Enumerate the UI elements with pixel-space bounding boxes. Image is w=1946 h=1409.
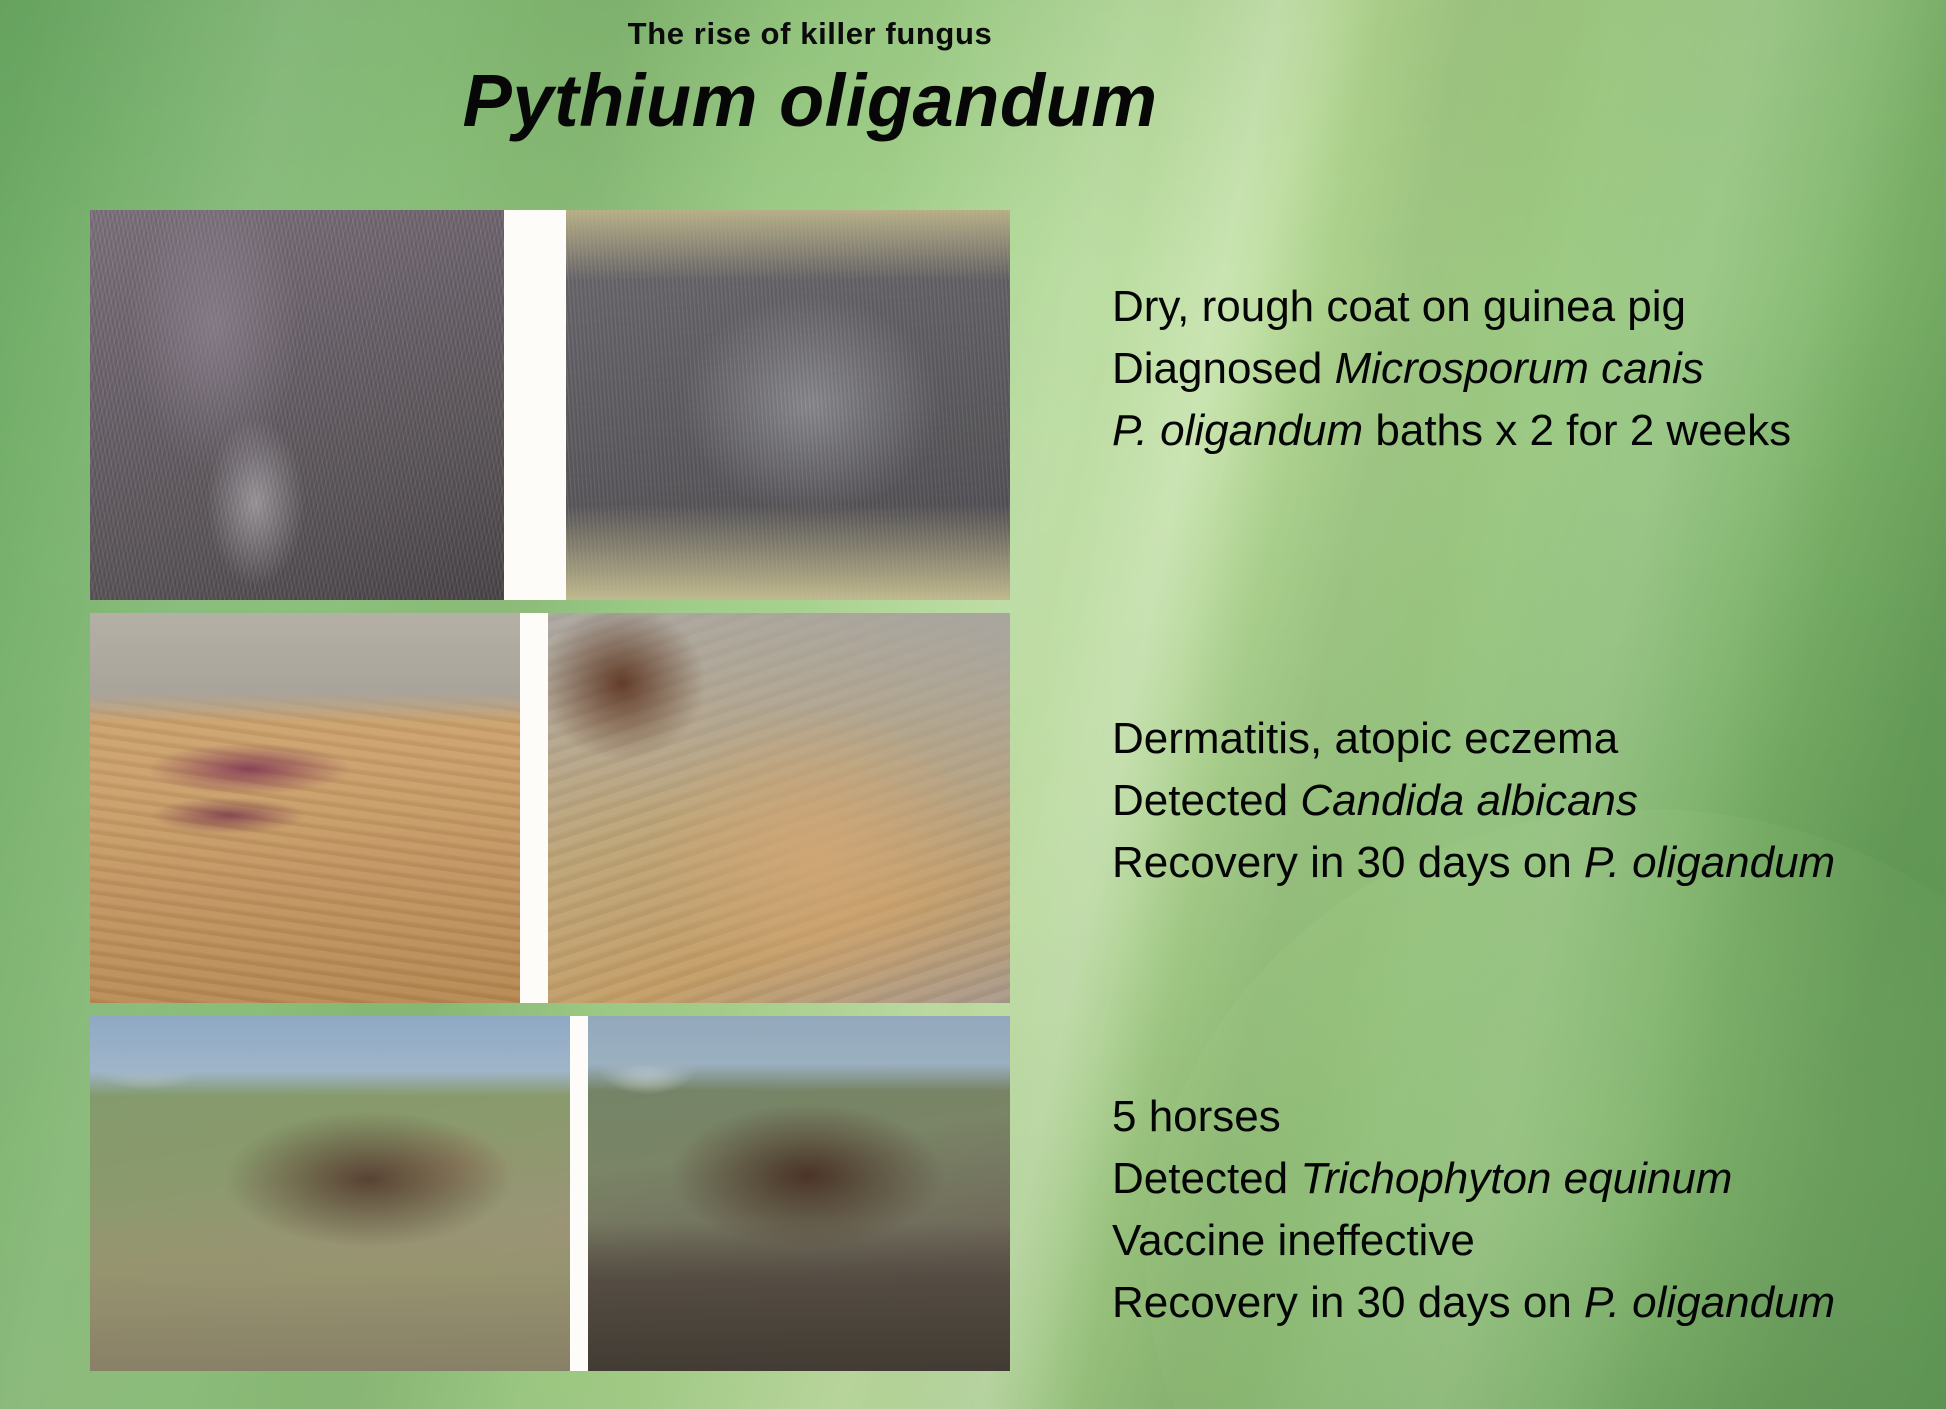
case-text-guinea-pig: Dry, rough coat on guinea pig Diagnosed … [1112,276,1912,462]
case3-line-4: Recovery in 30 days on P. oligandum [1112,1272,1912,1334]
case1-line-2: Diagnosed Microsporum canis [1112,338,1912,400]
species-candida-albicans: Candida albicans [1300,776,1638,825]
species-trichophyton-equinum: Trichophyton equinum [1300,1154,1732,1203]
photo-gap-divider [520,613,548,1003]
photo-row-dog [90,613,1010,1003]
species-p-oligandum: P. oligandum [1112,406,1363,455]
photo-row-guinea-pig [90,210,1010,600]
case3-line-2: Detected Trichophyton equinum [1112,1148,1912,1210]
photo-dog-back-lesion [90,613,520,1003]
photo-guinea-pig-coat-closeup [90,210,504,600]
case-text-dog: Dermatitis, atopic eczema Detected Candi… [1112,708,1912,894]
species-p-oligandum: P. oligandum [1584,1278,1835,1327]
case1-line-3: P. oligandum baths x 2 for 2 weeks [1112,400,1912,462]
photo-horse-grazing-paddock [90,1016,570,1371]
presentation-slide: The rise of killer fungus Pythium oligan… [0,0,1946,1409]
photo-dog-shoulder-neck [548,613,1010,1003]
species-microsporum-canis: Microsporum canis [1335,344,1704,393]
case2-line-2: Detected Candida albicans [1112,770,1912,832]
case3-line-1: 5 horses [1112,1086,1912,1148]
photo-guinea-pig-in-hay [566,210,1010,600]
slide-kicker: The rise of killer fungus [0,16,1620,52]
case2-line-3: Recovery in 30 days on P. oligandum [1112,832,1912,894]
photo-gap-divider [504,210,566,600]
case-text-horses: 5 horses Detected Trichophyton equinum V… [1112,1086,1912,1334]
case2-line-1: Dermatitis, atopic eczema [1112,708,1912,770]
species-p-oligandum: P. oligandum [1584,838,1835,887]
photo-gap-divider [570,1016,588,1371]
photo-row-horses [90,1016,1010,1371]
case3-line-3: Vaccine ineffective [1112,1210,1912,1272]
photo-horse-grazing-mud [588,1016,1010,1371]
case1-line-1: Dry, rough coat on guinea pig [1112,276,1912,338]
slide-title: Pythium oligandum [0,58,1620,143]
